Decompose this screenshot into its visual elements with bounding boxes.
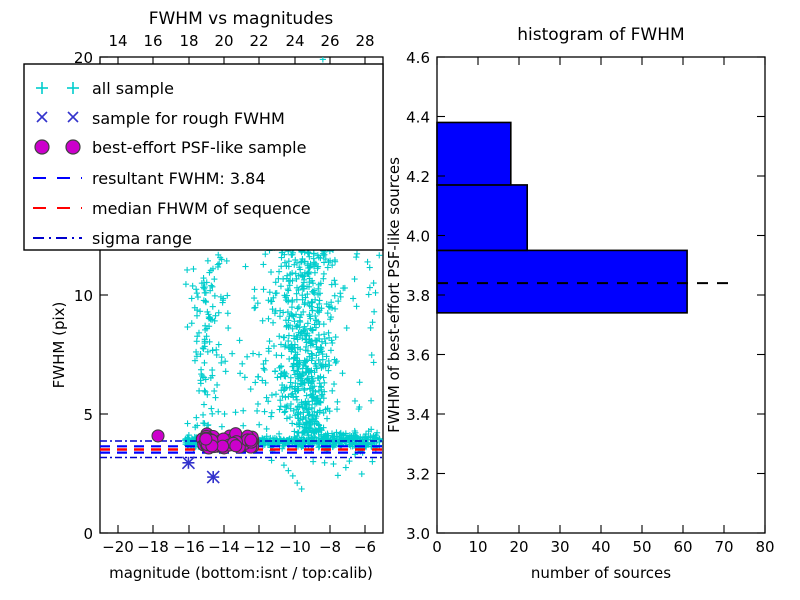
left-panel: FWHM vs magnitudes 14 16 18 20 22 24 26 … — [24, 9, 383, 582]
bottom-tick-2: −16 — [173, 538, 205, 556]
series-rough-fwhm-sample — [182, 457, 219, 483]
top-tick-1: 16 — [143, 32, 162, 50]
right-x-tick-40: 40 — [591, 538, 610, 556]
top-tick-5: 24 — [285, 32, 304, 50]
top-tick-2: 18 — [179, 32, 198, 50]
y-tick-5: 5 — [83, 406, 93, 424]
right-panel-title: histogram of FWHM — [517, 25, 684, 45]
circle-icon — [35, 140, 49, 154]
legend-label-0: all sample — [92, 79, 174, 98]
bottom-tick-0: −20 — [102, 538, 134, 556]
right-x-tick-80: 80 — [755, 538, 774, 556]
legend-box — [24, 64, 383, 250]
right-y-tick-4.0: 4.0 — [406, 228, 430, 246]
left-xaxis-label: magnitude (bottom:isnt / top:calib) — [109, 564, 373, 582]
right-x-tick-0: 0 — [432, 538, 442, 556]
right-y-tick-4.4: 4.4 — [406, 109, 430, 127]
right-y-tick-3.2: 3.2 — [406, 466, 430, 484]
histogram-bars — [437, 122, 687, 312]
legend-label-5: sigma range — [92, 229, 192, 248]
histogram-bar — [437, 250, 687, 312]
bottom-tick-1: −18 — [137, 538, 169, 556]
right-y-tick-3.6: 3.6 — [406, 347, 430, 365]
histogram-bar — [437, 122, 511, 184]
right-x-ticklabels: 01020304050607080 — [432, 538, 774, 556]
top-tick-0: 14 — [108, 32, 127, 50]
left-bottom-ticks — [118, 525, 365, 533]
left-panel-title: FWHM vs magnitudes — [149, 9, 334, 29]
right-x-tick-50: 50 — [632, 538, 651, 556]
figure-root: FWHM vs magnitudes 14 16 18 20 22 24 26 … — [0, 0, 800, 600]
right-x-tick-20: 20 — [509, 538, 528, 556]
right-xaxis-label: number of sources — [531, 564, 671, 582]
legend-label-4: median FHWM of sequence — [92, 199, 311, 218]
right-y-tick-4.2: 4.2 — [406, 168, 430, 186]
bottom-tick-6: −8 — [319, 538, 341, 556]
right-x-tick-10: 10 — [468, 538, 487, 556]
left-top-ticklabels: 14 16 18 20 22 24 26 28 — [108, 32, 374, 50]
right-y-tick-3.4: 3.4 — [406, 406, 430, 424]
right-panel: histogram of FWHM 01020304050607080 3.03… — [385, 25, 775, 582]
bottom-tick-7: −6 — [354, 538, 376, 556]
top-tick-3: 20 — [214, 32, 233, 50]
legend: all sample sample for rough FWHM best-ef… — [24, 64, 383, 250]
right-y-tick-3.0: 3.0 — [406, 525, 430, 543]
top-tick-7: 28 — [355, 32, 374, 50]
bottom-tick-5: −10 — [279, 538, 311, 556]
right-y-ticklabels: 3.03.23.43.63.84.04.24.44.6 — [406, 49, 430, 543]
right-y-tick-4.6: 4.6 — [406, 49, 430, 67]
right-x-tick-70: 70 — [714, 538, 733, 556]
bottom-tick-3: −14 — [208, 538, 240, 556]
left-yaxis-label: FWHM (pix) — [50, 302, 68, 389]
figure-canvas: FWHM vs magnitudes 14 16 18 20 22 24 26 … — [0, 0, 800, 600]
top-tick-4: 22 — [249, 32, 268, 50]
right-y-tick-3.8: 3.8 — [406, 287, 430, 305]
left-bottom-ticklabels: −20 −18 −16 −14 −12 −10 −8 −6 — [102, 538, 376, 556]
histogram-bar — [437, 185, 527, 250]
y-tick-0: 0 — [83, 525, 93, 543]
y-tick-10: 10 — [74, 287, 93, 305]
legend-label-3: resultant FWHM: 3.84 — [92, 169, 266, 188]
circle-icon — [66, 140, 80, 154]
right-x-tick-30: 30 — [550, 538, 569, 556]
legend-label-2: best-effort PSF-like sample — [92, 138, 306, 157]
legend-label-1: sample for rough FWHM — [92, 109, 285, 128]
top-tick-6: 26 — [320, 32, 339, 50]
right-x-tick-60: 60 — [673, 538, 692, 556]
bottom-tick-4: −12 — [243, 538, 275, 556]
right-yaxis-label: FWHM of best-effort PSF-like sources — [385, 157, 403, 433]
